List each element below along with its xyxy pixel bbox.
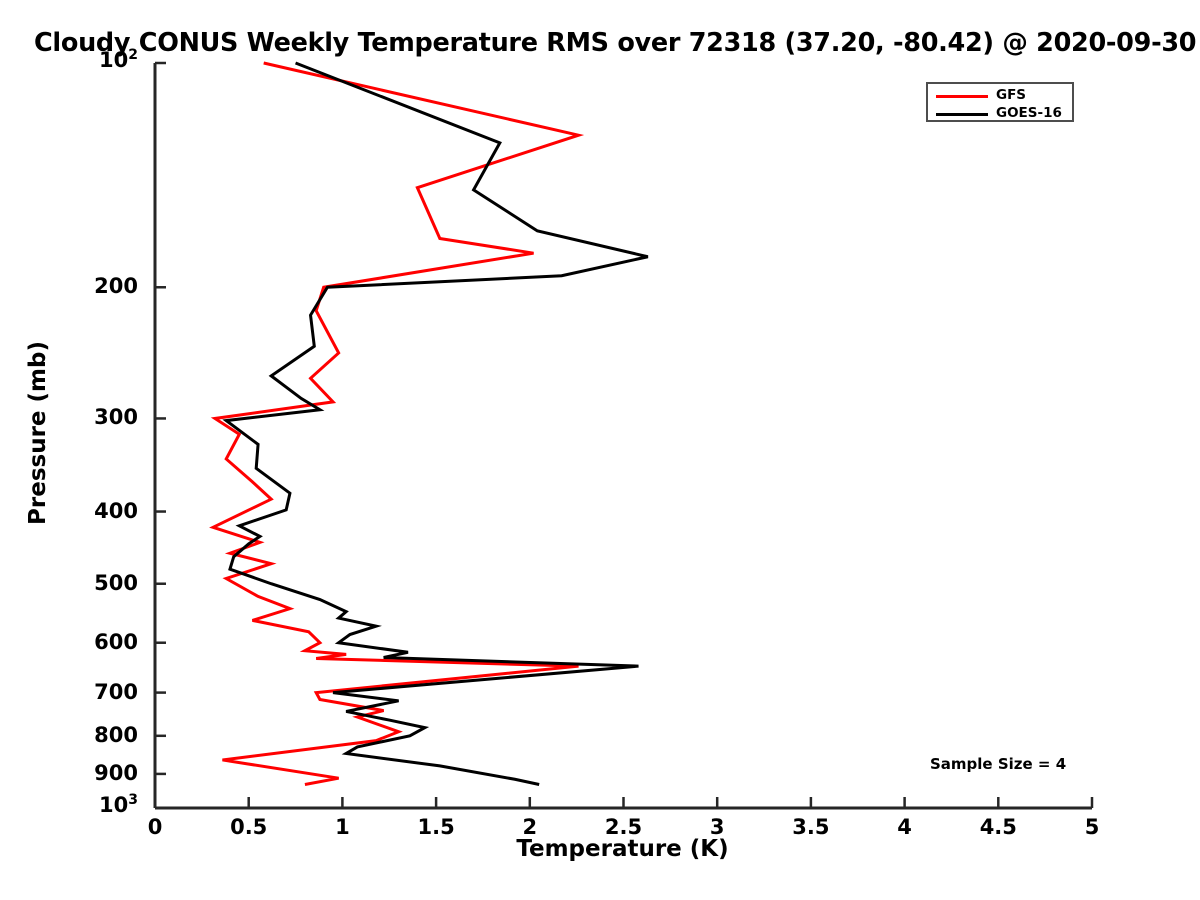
legend-label: GOES-16 [996, 105, 1062, 121]
y-axis-title: Pressure (mb) [25, 263, 51, 603]
y-tick-label: 700 [48, 680, 138, 704]
y-tick-label: 200 [48, 274, 138, 298]
y-tick-label: 900 [48, 761, 138, 785]
chart-legend: GFSGOES-16 [926, 82, 1074, 122]
legend-entry: GFS [928, 87, 1072, 105]
axis-frame [155, 63, 1092, 808]
x-tick-label: 2 [490, 815, 570, 839]
sample-size-annotation: Sample Size = 4 [930, 755, 1066, 773]
x-tick-label: 3 [677, 815, 757, 839]
y-tick-label: 400 [48, 499, 138, 523]
x-axis-ticks [155, 797, 1092, 808]
data-series-layer [213, 63, 648, 785]
chart-figure: Cloudy CONUS Weekly Temperature RMS over… [0, 0, 1200, 900]
x-tick-label: 5 [1052, 815, 1132, 839]
x-tick-label: 2.5 [584, 815, 664, 839]
y-tick-label: 102 [48, 47, 138, 72]
series-line-goes-16 [226, 63, 648, 785]
y-tick-label: 103 [48, 792, 138, 817]
x-tick-label: 1 [302, 815, 382, 839]
x-tick-label: 4.5 [958, 815, 1038, 839]
x-tick-label: 0 [115, 815, 195, 839]
x-tick-label: 4 [865, 815, 945, 839]
legend-color-swatch [936, 113, 988, 116]
legend-label: GFS [996, 87, 1026, 103]
x-tick-label: 0.5 [209, 815, 289, 839]
y-tick-label: 600 [48, 630, 138, 654]
legend-color-swatch [936, 95, 988, 98]
x-tick-label: 1.5 [396, 815, 476, 839]
y-tick-label: 800 [48, 723, 138, 747]
x-tick-label: 3.5 [771, 815, 851, 839]
y-tick-label: 500 [48, 571, 138, 595]
y-axis-ticks [155, 63, 166, 808]
y-tick-label: 300 [48, 405, 138, 429]
x-axis-title: Temperature (K) [0, 836, 1200, 862]
legend-entry: GOES-16 [928, 105, 1072, 123]
